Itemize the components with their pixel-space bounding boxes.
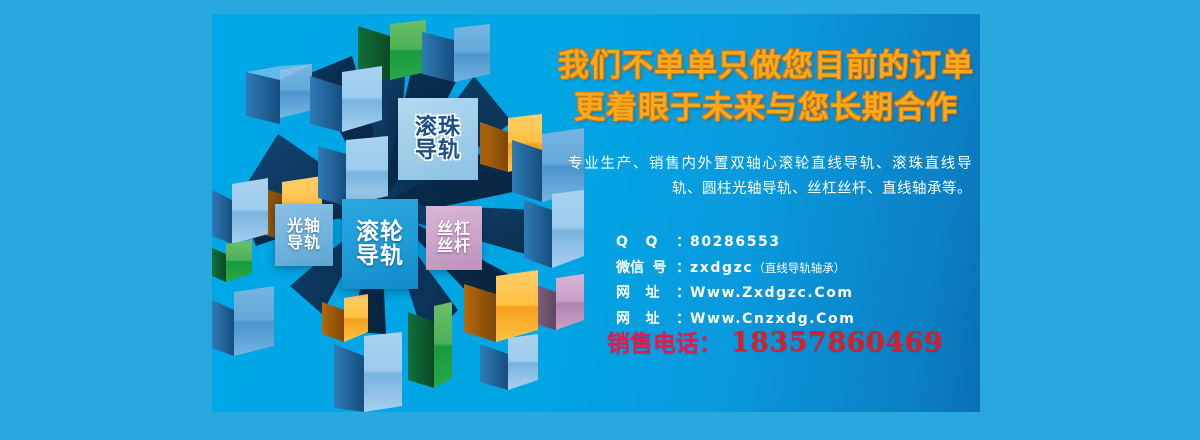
sales-phone-number[interactable]: 18357860469 xyxy=(731,327,943,358)
contact-row-qq: Q Q ： 80286553 xyxy=(616,232,980,254)
sales-phone-label: 销售电话： xyxy=(607,324,722,358)
contact-label-wechat: 微信 号 ： xyxy=(616,258,690,280)
product-label-lead-screw[interactable]: 丝杠 丝杆 xyxy=(426,206,482,270)
cube-orange-4 xyxy=(322,294,368,342)
cube-green-3 xyxy=(212,240,252,282)
cube-blue-1 xyxy=(246,64,312,124)
product-label-ball-guide[interactable]: 滚珠 导轨 xyxy=(398,98,478,180)
product-label-roller-guide-line1: 滚轮 xyxy=(356,220,404,244)
sales-phone[interactable]: 销售电话： 18357860469 xyxy=(570,324,980,358)
contact-value-website-1[interactable]: Www.Zxdgzc.Com xyxy=(690,283,854,305)
cube-blue-3 xyxy=(422,24,490,82)
product-label-ball-guide-line1: 滚珠 xyxy=(415,116,461,139)
contact-label-website-1: 网 址 ： xyxy=(616,283,690,305)
contact-value-qq[interactable]: 80286553 xyxy=(690,232,781,254)
promo-banner: 滚珠 导轨 滚轮 导轨 光轴 导轨 丝杠 丝杆 我们不单单只做您目前的订单 更着… xyxy=(212,14,980,412)
contact-note-wechat: （直线导轨轴承） xyxy=(753,260,845,278)
cube-blue-8 xyxy=(212,286,274,356)
cube-blue-6 xyxy=(480,334,538,390)
headline: 我们不单单只做您目前的订单 更着眼于未来与您长期合作 xyxy=(552,46,980,129)
contact-row-website-1: 网 址 ： Www.Zxdgzc.Com xyxy=(616,283,980,305)
product-label-ball-guide-line2: 导轨 xyxy=(415,139,461,162)
product-label-optical-shaft-guide[interactable]: 光轴 导轨 xyxy=(275,204,333,266)
company-description: 专业生产、销售内外置双轴心滚轮直线导轨、滚珠直线导轨、圆柱光轴导轨、丝杠丝杆、直… xyxy=(568,152,972,202)
contact-label-qq: Q Q ： xyxy=(616,232,690,254)
contact-value-wechat[interactable]: zxdgzc xyxy=(690,258,753,280)
product-label-lead-screw-line2: 丝杆 xyxy=(437,238,471,255)
contact-block: Q Q ： 80286553 微信 号 ： zxdgzc （直线导轨轴承） xyxy=(616,232,980,335)
cube-blue-10 xyxy=(318,136,388,206)
headline-line-2: 更着眼于未来与您长期合作 xyxy=(552,88,980,130)
product-label-optical-shaft-guide-line2: 导轨 xyxy=(287,235,321,252)
cube-blue-9 xyxy=(212,178,268,244)
banner-page: 滚珠 导轨 滚轮 导轨 光轴 导轨 丝杠 丝杆 我们不单单只做您目前的订单 更着… xyxy=(0,0,1200,440)
product-label-roller-guide[interactable]: 滚轮 导轨 xyxy=(342,199,418,289)
headline-line-1: 我们不单单只做您目前的订单 xyxy=(552,46,980,88)
cube-blue-7 xyxy=(334,332,402,412)
product-label-roller-guide-line2: 导轨 xyxy=(356,244,404,268)
banner-copy: 我们不单单只做您目前的订单 更着眼于未来与您长期合作 专业生产、销售内外置双轴心… xyxy=(552,14,980,412)
contact-row-wechat: 微信 号 ： zxdgzc （直线导轨轴承） xyxy=(616,258,980,280)
